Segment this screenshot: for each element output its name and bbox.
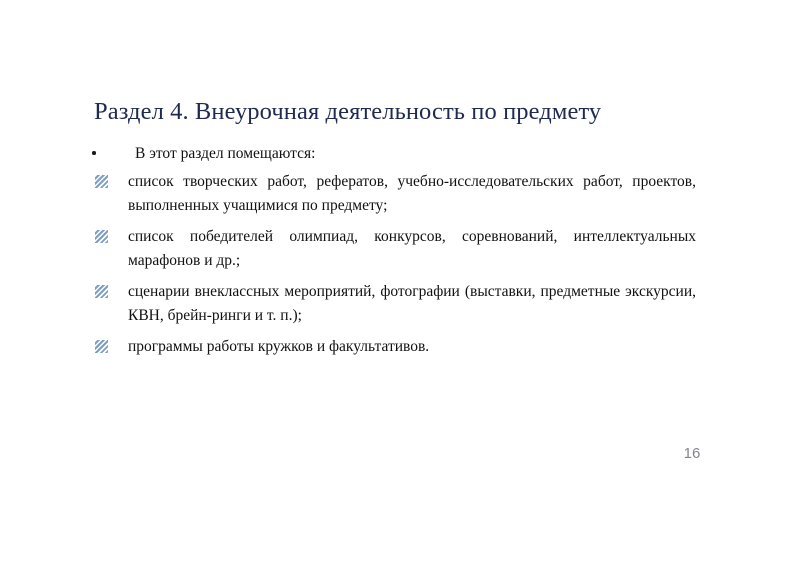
round-bullet-icon [92,151,96,155]
hatched-square-icon [95,230,108,243]
list-item: список творческих работ, рефератов, учеб… [88,170,696,218]
list-item-text: список творческих работ, рефератов, учеб… [128,170,696,218]
hatched-square-icon [95,340,108,353]
page-title: Раздел 4. Внеурочная деятельность по пре… [94,97,714,127]
list-item: список победителей олимпиад, конкурсов, … [88,225,696,273]
content-body: В этот раздел помещаются: список творчес… [88,142,696,366]
list-item-text: список победителей олимпиад, конкурсов, … [128,225,696,273]
slide-canvas: Раздел 4. Внеурочная деятельность по пре… [0,0,800,566]
intro-line: В этот раздел помещаются: [88,142,696,168]
list-item: программы работы кружков и факультативов… [88,335,696,359]
hatched-square-icon [95,285,108,298]
list-item-text: программы работы кружков и факультативов… [128,335,696,359]
hatched-square-icon [95,175,108,188]
list-item: сценарии внеклассных мероприятий, фотогр… [88,280,696,328]
list-item-text: сценарии внеклассных мероприятий, фотогр… [128,280,696,328]
intro-text: В этот раздел помещаются: [135,142,315,166]
page-number: 16 [672,445,712,462]
